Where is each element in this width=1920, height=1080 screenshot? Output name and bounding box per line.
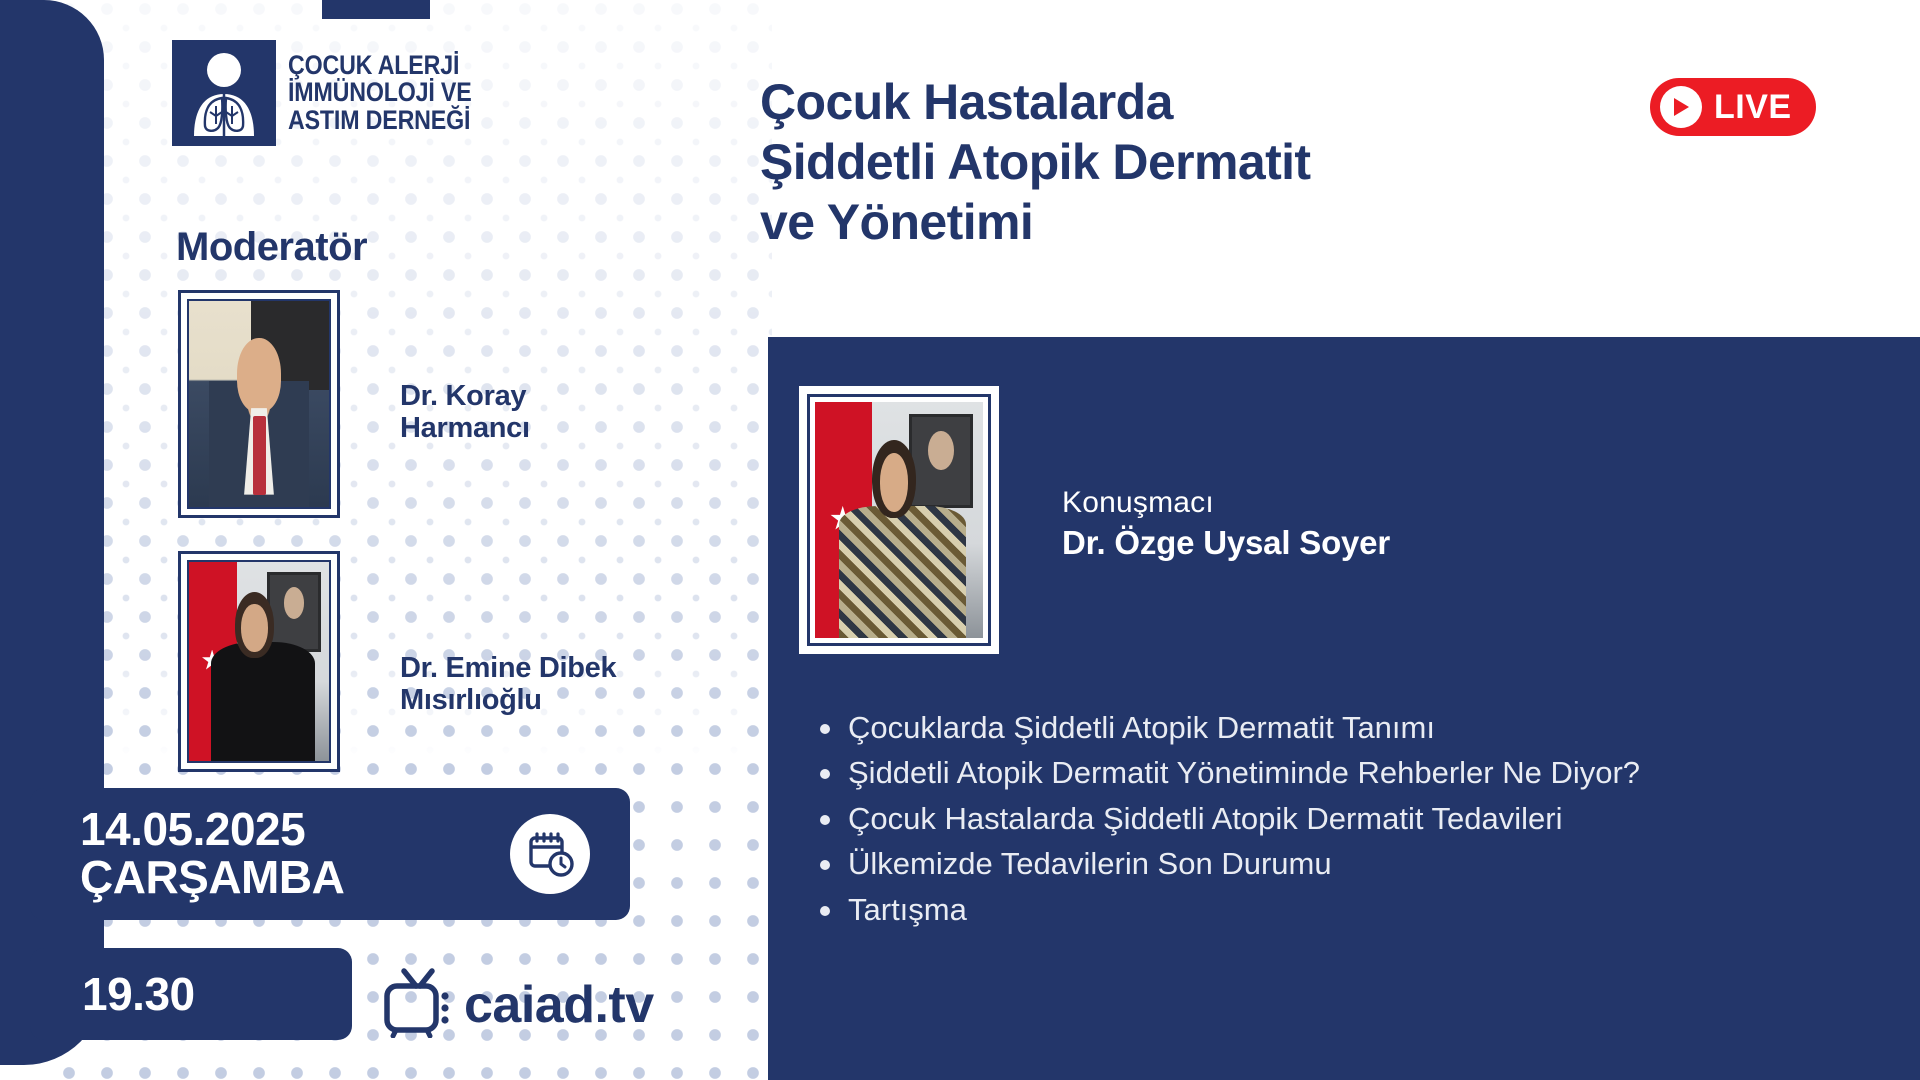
moderator-name-1-line2: Harmancı xyxy=(400,412,730,444)
portrait-koray-harmanci xyxy=(189,301,329,507)
moderator-name-2: Dr. Emine Dibek Mısırlıoğlu xyxy=(400,652,730,717)
portrait-emine-dibek-misirlioglu xyxy=(189,562,329,761)
list-item: Çocuk Hastalarda Şiddetli Atopik Dermati… xyxy=(820,797,1900,840)
top-navy-tab xyxy=(322,0,430,19)
moderator-name-2-line1: Dr. Emine Dibek xyxy=(400,652,730,684)
event-date-line1: 14.05.2025 xyxy=(80,806,344,854)
calendar-clock-icon xyxy=(510,814,590,894)
portrait-ozge-uysal-soyer xyxy=(815,402,983,638)
moderator-photo-1 xyxy=(178,290,340,518)
topic-text: Şiddetli Atopik Dermatit Yönetiminde Reh… xyxy=(848,751,1900,794)
association-logo: ÇOCUK ALERJİ İMMÜNOLOJİ VE ASTIM DERNEĞİ xyxy=(172,40,501,146)
moderator-name-2-line2: Mısırlıoğlu xyxy=(400,684,730,716)
association-name: ÇOCUK ALERJİ İMMÜNOLOJİ VE ASTIM DERNEĞİ xyxy=(288,52,472,135)
topic-text: Ülkemizde Tedavilerin Son Durumu xyxy=(848,842,1900,885)
logo-line-2: İMMÜNOLOJİ VE xyxy=(288,79,472,107)
channel-link[interactable]: caiad.tv xyxy=(382,966,654,1043)
event-time-box: 19.30 xyxy=(30,948,352,1040)
moderator-heading: Moderatör xyxy=(176,225,367,270)
play-icon xyxy=(1660,86,1702,128)
tv-icon xyxy=(382,966,458,1043)
list-item: Ülkemizde Tedavilerin Son Durumu xyxy=(820,842,1900,885)
live-badge-label: LIVE xyxy=(1714,88,1792,127)
moderator-name-1-line1: Dr. Koray xyxy=(400,380,730,412)
speaker-role-label: Konuşmacı xyxy=(1062,486,1214,520)
list-item: Tartışma xyxy=(820,888,1900,931)
topic-text: Çocuklarda Şiddetli Atopik Dermatit Tanı… xyxy=(848,706,1900,749)
bullet-icon xyxy=(820,815,830,825)
channel-label: caiad.tv xyxy=(464,975,654,1035)
speaker-photo xyxy=(799,386,999,654)
person-lungs-icon xyxy=(172,40,276,146)
bullet-icon xyxy=(820,906,830,916)
event-date-text: 14.05.2025 ÇARŞAMBA xyxy=(80,806,344,902)
poster-canvas: ÇOCUK ALERJİ İMMÜNOLOJİ VE ASTIM DERNEĞİ… xyxy=(0,0,1920,1080)
list-item: Şiddetli Atopik Dermatit Yönetiminde Reh… xyxy=(820,751,1900,794)
event-date-line2: ÇARŞAMBA xyxy=(80,854,344,902)
speaker-name: Dr. Özge Uysal Soyer xyxy=(1062,524,1390,562)
page-title-line3: ve Yönetimi xyxy=(760,192,1590,252)
page-title: Çocuk Hastalarda Şiddetli Atopik Dermati… xyxy=(760,72,1590,252)
bullet-icon xyxy=(820,724,830,734)
bullet-icon xyxy=(820,769,830,779)
moderator-photo-2 xyxy=(178,551,340,772)
live-badge[interactable]: LIVE xyxy=(1650,78,1816,136)
logo-line-1: ÇOCUK ALERJİ xyxy=(288,52,472,80)
page-title-line1: Çocuk Hastalarda xyxy=(760,72,1590,132)
event-time-text: 19.30 xyxy=(82,967,195,1021)
moderator-name-1: Dr. Koray Harmancı xyxy=(400,380,730,445)
topics-list: Çocuklarda Şiddetli Atopik Dermatit Tanı… xyxy=(820,706,1900,933)
bullet-icon xyxy=(820,860,830,870)
event-date-box: 14.05.2025 ÇARŞAMBA xyxy=(30,788,630,920)
topic-text: Tartışma xyxy=(848,888,1900,931)
topic-text: Çocuk Hastalarda Şiddetli Atopik Dermati… xyxy=(848,797,1900,840)
list-item: Çocuklarda Şiddetli Atopik Dermatit Tanı… xyxy=(820,706,1900,749)
page-title-line2: Şiddetli Atopik Dermatit xyxy=(760,132,1590,192)
logo-line-3: ASTIM DERNEĞİ xyxy=(288,107,472,135)
